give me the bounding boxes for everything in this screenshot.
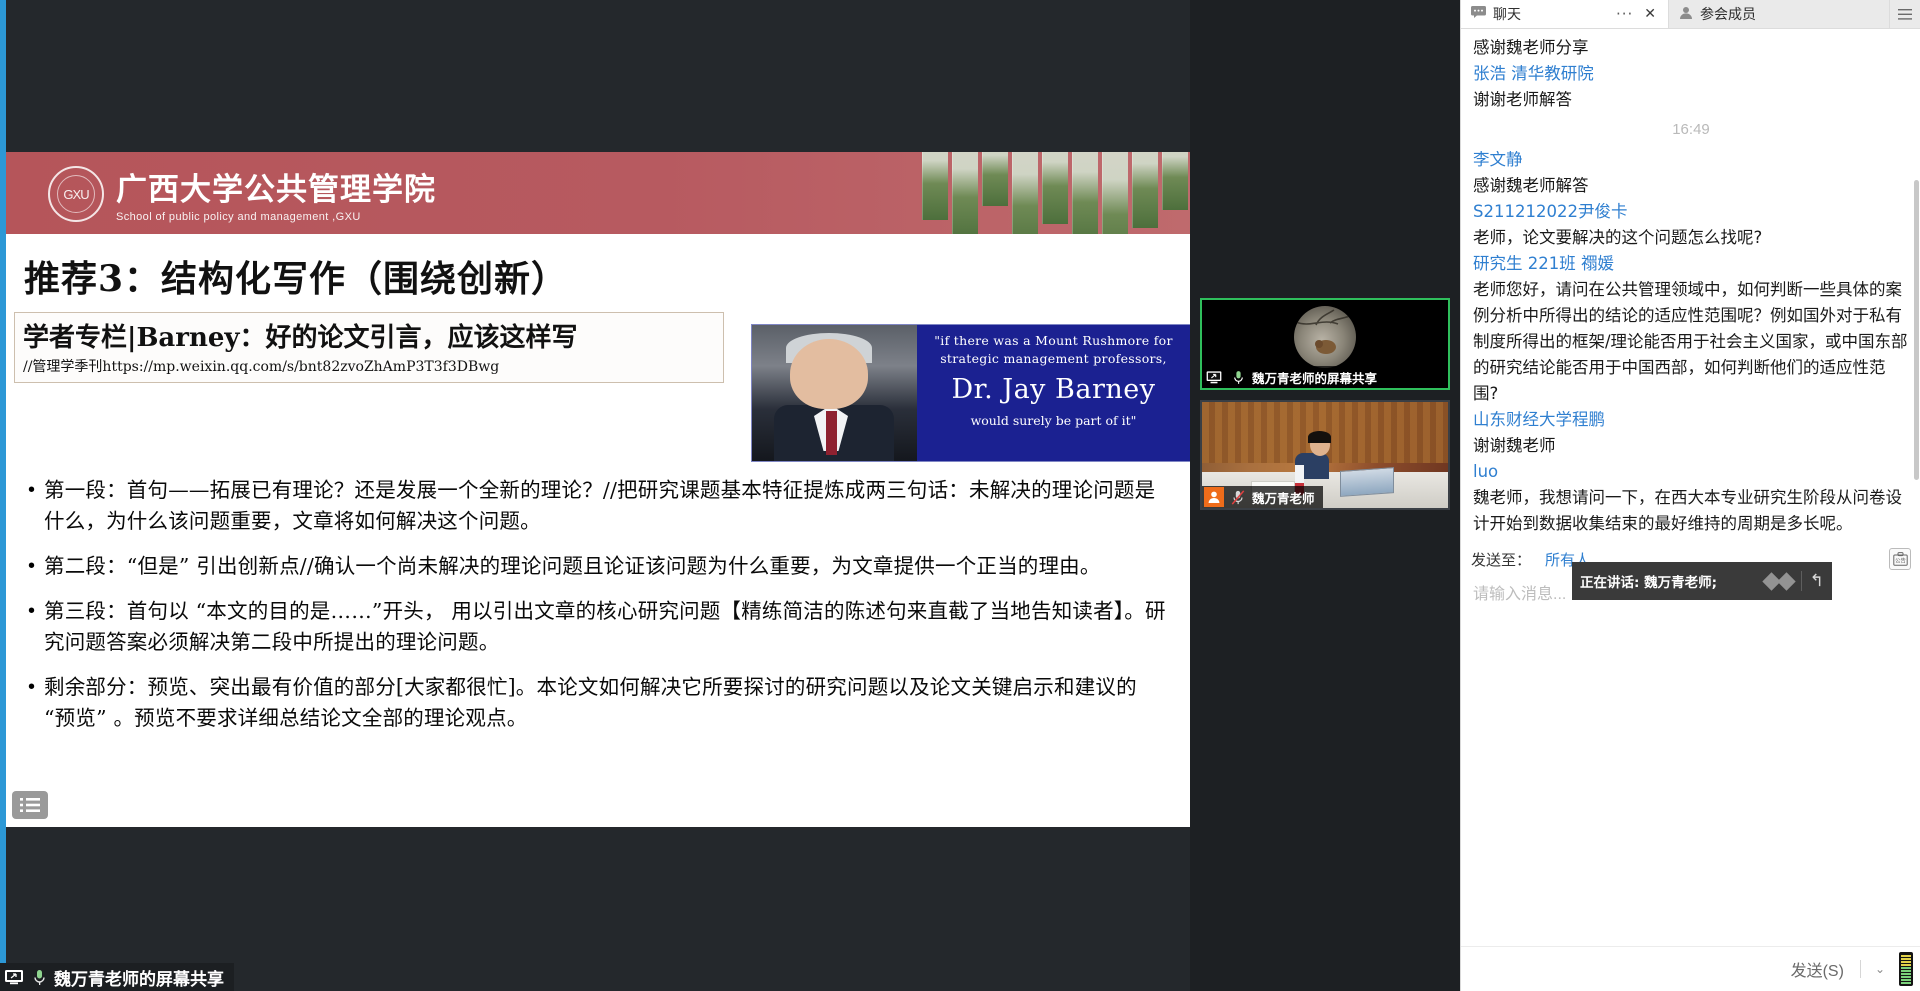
slide-bullet: • 第三段：首句以 “本文的目的是……”开头， 用以引出文章的核心研究问题【精练…	[28, 596, 1168, 658]
chat-timestamp: 16:49	[1473, 113, 1909, 147]
announcement-icon[interactable]: 公告	[1889, 548, 1911, 570]
bullet-text: 剩余部分：预览、突出最有价值的部分[大家都很忙]。本论文如何解决它所要探讨的研究…	[44, 672, 1168, 734]
tab-chat-label: 聊天	[1493, 4, 1521, 24]
barney-quote-line4: would surely be part of it"	[917, 413, 1190, 428]
chat-message: 谢谢老师解答	[1473, 87, 1909, 113]
slide-bullet: • 第二段：“但是” 引出创新点//确认一个尚未解决的理论问题且论证该问题为什么…	[28, 551, 1168, 582]
sender-name: 张浩 清华教研院	[1473, 64, 1594, 83]
slide-source-url: //管理学季刊https://mp.weixin.qq.com/s/bnt82z…	[23, 356, 715, 376]
chat-bubble-icon	[1471, 6, 1486, 22]
school-name-cn: 广西大学公共管理学院	[116, 164, 436, 209]
screen-share-status-bar: 魏万青老师的屏幕共享	[0, 963, 234, 991]
barney-portrait-card: "if there was a Mount Rushmore for strat…	[751, 324, 1190, 462]
slide-bullet: • 第一段：首句——拓展已有理论？还是发展一个全新的理论？//把研究课题基本特征…	[28, 475, 1168, 537]
slide-subtitle-box: 学者专栏|Barney：好的论文引言，应该这样写 //管理学季刊https://…	[14, 312, 724, 383]
tile-label-bar: 魏万青老师	[1202, 486, 1323, 508]
message-text: 老师您好，请问在公共管理领域中，如何判断一些具体的案例分析中所得出的结论的适应性…	[1473, 277, 1909, 407]
chat-more-button[interactable]: ···	[1616, 5, 1637, 23]
reply-arrow-icon[interactable]: ↰	[1810, 571, 1824, 591]
send-action-bar: 发送(S) ⌄	[1461, 946, 1920, 991]
message-text: 谢谢老师解答	[1473, 90, 1572, 109]
video-tile-column: 魏万青老师的屏幕共享	[1190, 0, 1460, 991]
tab-chat[interactable]: 聊天 ··· ✕	[1461, 0, 1668, 28]
message-text: 魏老师，我想请问一下，在西大本专业研究生阶段从问卷设计开始到数据收集结束的最好维…	[1473, 485, 1909, 537]
bullet-text: 第三段：首句以 “本文的目的是……”开头， 用以引出文章的核心研究问题【精练简洁…	[44, 596, 1168, 658]
slide-header-banner: GXU 广西大学公共管理学院 School of public policy a…	[6, 152, 1190, 234]
send-button[interactable]: 发送(S)	[1783, 955, 1852, 983]
tile-label-text: 魏万青老师	[1252, 488, 1315, 507]
meeting-window: GXU 广西大学公共管理学院 School of public policy a…	[0, 0, 1920, 991]
barney-photo	[752, 325, 917, 461]
bird-branch-avatar-icon	[1294, 306, 1356, 368]
bullet-dot-icon: •	[28, 596, 44, 658]
chat-message: luo	[1473, 459, 1909, 485]
bullet-text: 第一段：首句——拓展已有理论？还是发展一个全新的理论？//把研究课题基本特征提炼…	[44, 475, 1168, 537]
slide-title: 推荐3：结构化写作（围绕创新）	[24, 250, 1190, 302]
speaking-toast-text: 正在讲话: 魏万青老师;	[1580, 571, 1717, 591]
chat-message: 李文静	[1473, 147, 1909, 173]
chat-message: 老师，论文要解决的这个问题怎么找呢?	[1473, 225, 1909, 251]
stage-left-accent-strip	[0, 0, 6, 991]
school-name-en: School of public policy and management ,…	[116, 211, 436, 223]
chat-message-list[interactable]: 感谢魏老师分享 张浩 清华教研院 谢谢老师解答 16:49 李文静 感谢魏老师解…	[1461, 29, 1920, 544]
message-text: 老师，论文要解决的这个问题怎么找呢?	[1473, 228, 1762, 247]
microphone-muted-icon	[1228, 487, 1248, 507]
barney-quote-line1: "if there was a Mount Rushmore for	[917, 333, 1190, 348]
screen-share-icon	[4, 967, 24, 987]
slide-bullet: • 剩余部分：预览、突出最有价值的部分[大家都很忙]。本论文如何解决它所要探讨的…	[28, 672, 1168, 734]
tile-label-bar: 魏万青老师的屏幕共享	[1202, 366, 1385, 388]
university-crest-icon: GXU	[48, 166, 104, 222]
chat-message: S211212022尹俊卡	[1473, 199, 1909, 225]
video-tile-screen-share[interactable]: 魏万青老师的屏幕共享	[1200, 298, 1450, 390]
barney-name: Dr. Jay Barney	[917, 374, 1190, 405]
slide-notes-button[interactable]	[12, 791, 48, 819]
chat-message: 张浩 清华教研院	[1473, 61, 1909, 87]
chat-message: 感谢魏老师分享	[1473, 35, 1909, 61]
message-text: 感谢魏老师分享	[1473, 38, 1589, 57]
avatar	[1294, 306, 1356, 368]
chat-message: 谢谢魏老师	[1473, 433, 1909, 459]
svg-text:公告: 公告	[1895, 556, 1906, 564]
chat-message: 山东财经大学程鹏	[1473, 407, 1909, 433]
side-panel: 聊天 ··· ✕ 参会成员	[1460, 0, 1920, 991]
close-icon[interactable]: ✕	[1644, 6, 1658, 22]
tile-label-text: 魏万青老师的屏幕共享	[1252, 368, 1377, 387]
sender-name: 研究生 221班 禤媛	[1473, 254, 1614, 273]
chevron-down-icon[interactable]: ⌄	[1869, 962, 1891, 976]
diamond-decoration-icon	[1765, 575, 1793, 588]
microphone-icon	[29, 967, 49, 987]
sender-name: luo	[1473, 462, 1498, 481]
speaking-toast: 正在讲话: 魏万青老师; ↰	[1572, 562, 1832, 600]
tab-participants[interactable]: 参会成员	[1668, 0, 1890, 28]
slide-bullet-list: • 第一段：首句——拓展已有理论？还是发展一个全新的理论？//把研究课题基本特征…	[28, 475, 1168, 734]
send-to-label: 发送至：	[1471, 549, 1531, 570]
chat-message: 研究生 221班 禤媛	[1473, 251, 1909, 277]
volume-meter	[1899, 952, 1913, 986]
divider	[1860, 960, 1861, 978]
message-text: 谢谢魏老师	[1473, 436, 1556, 455]
chat-message: 感谢魏老师解答	[1473, 173, 1909, 199]
video-tile-camera[interactable]: 魏万青老师	[1200, 400, 1450, 510]
presentation-slide: GXU 广西大学公共管理学院 School of public policy a…	[6, 152, 1190, 827]
bullet-dot-icon: •	[28, 672, 44, 734]
sender-name: 山东财经大学程鹏	[1473, 410, 1605, 429]
tab-participants-label: 参会成员	[1700, 4, 1756, 24]
shared-screen-stage: GXU 广西大学公共管理学院 School of public policy a…	[0, 0, 1190, 991]
message-input-placeholder: 请输入消息...	[1473, 586, 1566, 603]
message-input[interactable]: 请输入消息...	[1461, 574, 1920, 946]
sender-name: 李文静	[1473, 150, 1523, 169]
slide-subtitle: 学者专栏|Barney：好的论文引言，应该这样写	[23, 317, 715, 354]
header-photo-strip	[922, 152, 1182, 234]
microphone-icon	[1228, 367, 1248, 387]
message-text: 感谢魏老师解答	[1473, 176, 1589, 195]
chat-scrollbar[interactable]	[1914, 180, 1919, 480]
person-avatar-icon	[1204, 487, 1224, 507]
hamburger-menu-icon[interactable]	[1890, 0, 1920, 28]
screen-share-owner-label: 魏万青老师的屏幕共享	[54, 965, 224, 990]
list-icon	[20, 797, 40, 813]
person-icon	[1679, 6, 1693, 23]
sender-name: S211212022尹俊卡	[1473, 202, 1627, 221]
bullet-dot-icon: •	[28, 551, 44, 582]
panel-tab-bar: 聊天 ··· ✕ 参会成员	[1461, 0, 1920, 29]
stage-top-letterbox	[0, 0, 1190, 152]
screen-share-icon	[1204, 367, 1224, 387]
bullet-dot-icon: •	[28, 475, 44, 537]
barney-quote-line2: strategic management professors,	[917, 351, 1190, 366]
bullet-text: 第二段：“但是” 引出创新点//确认一个尚未解决的理论问题且论证该问题为什么重要…	[44, 551, 1101, 582]
